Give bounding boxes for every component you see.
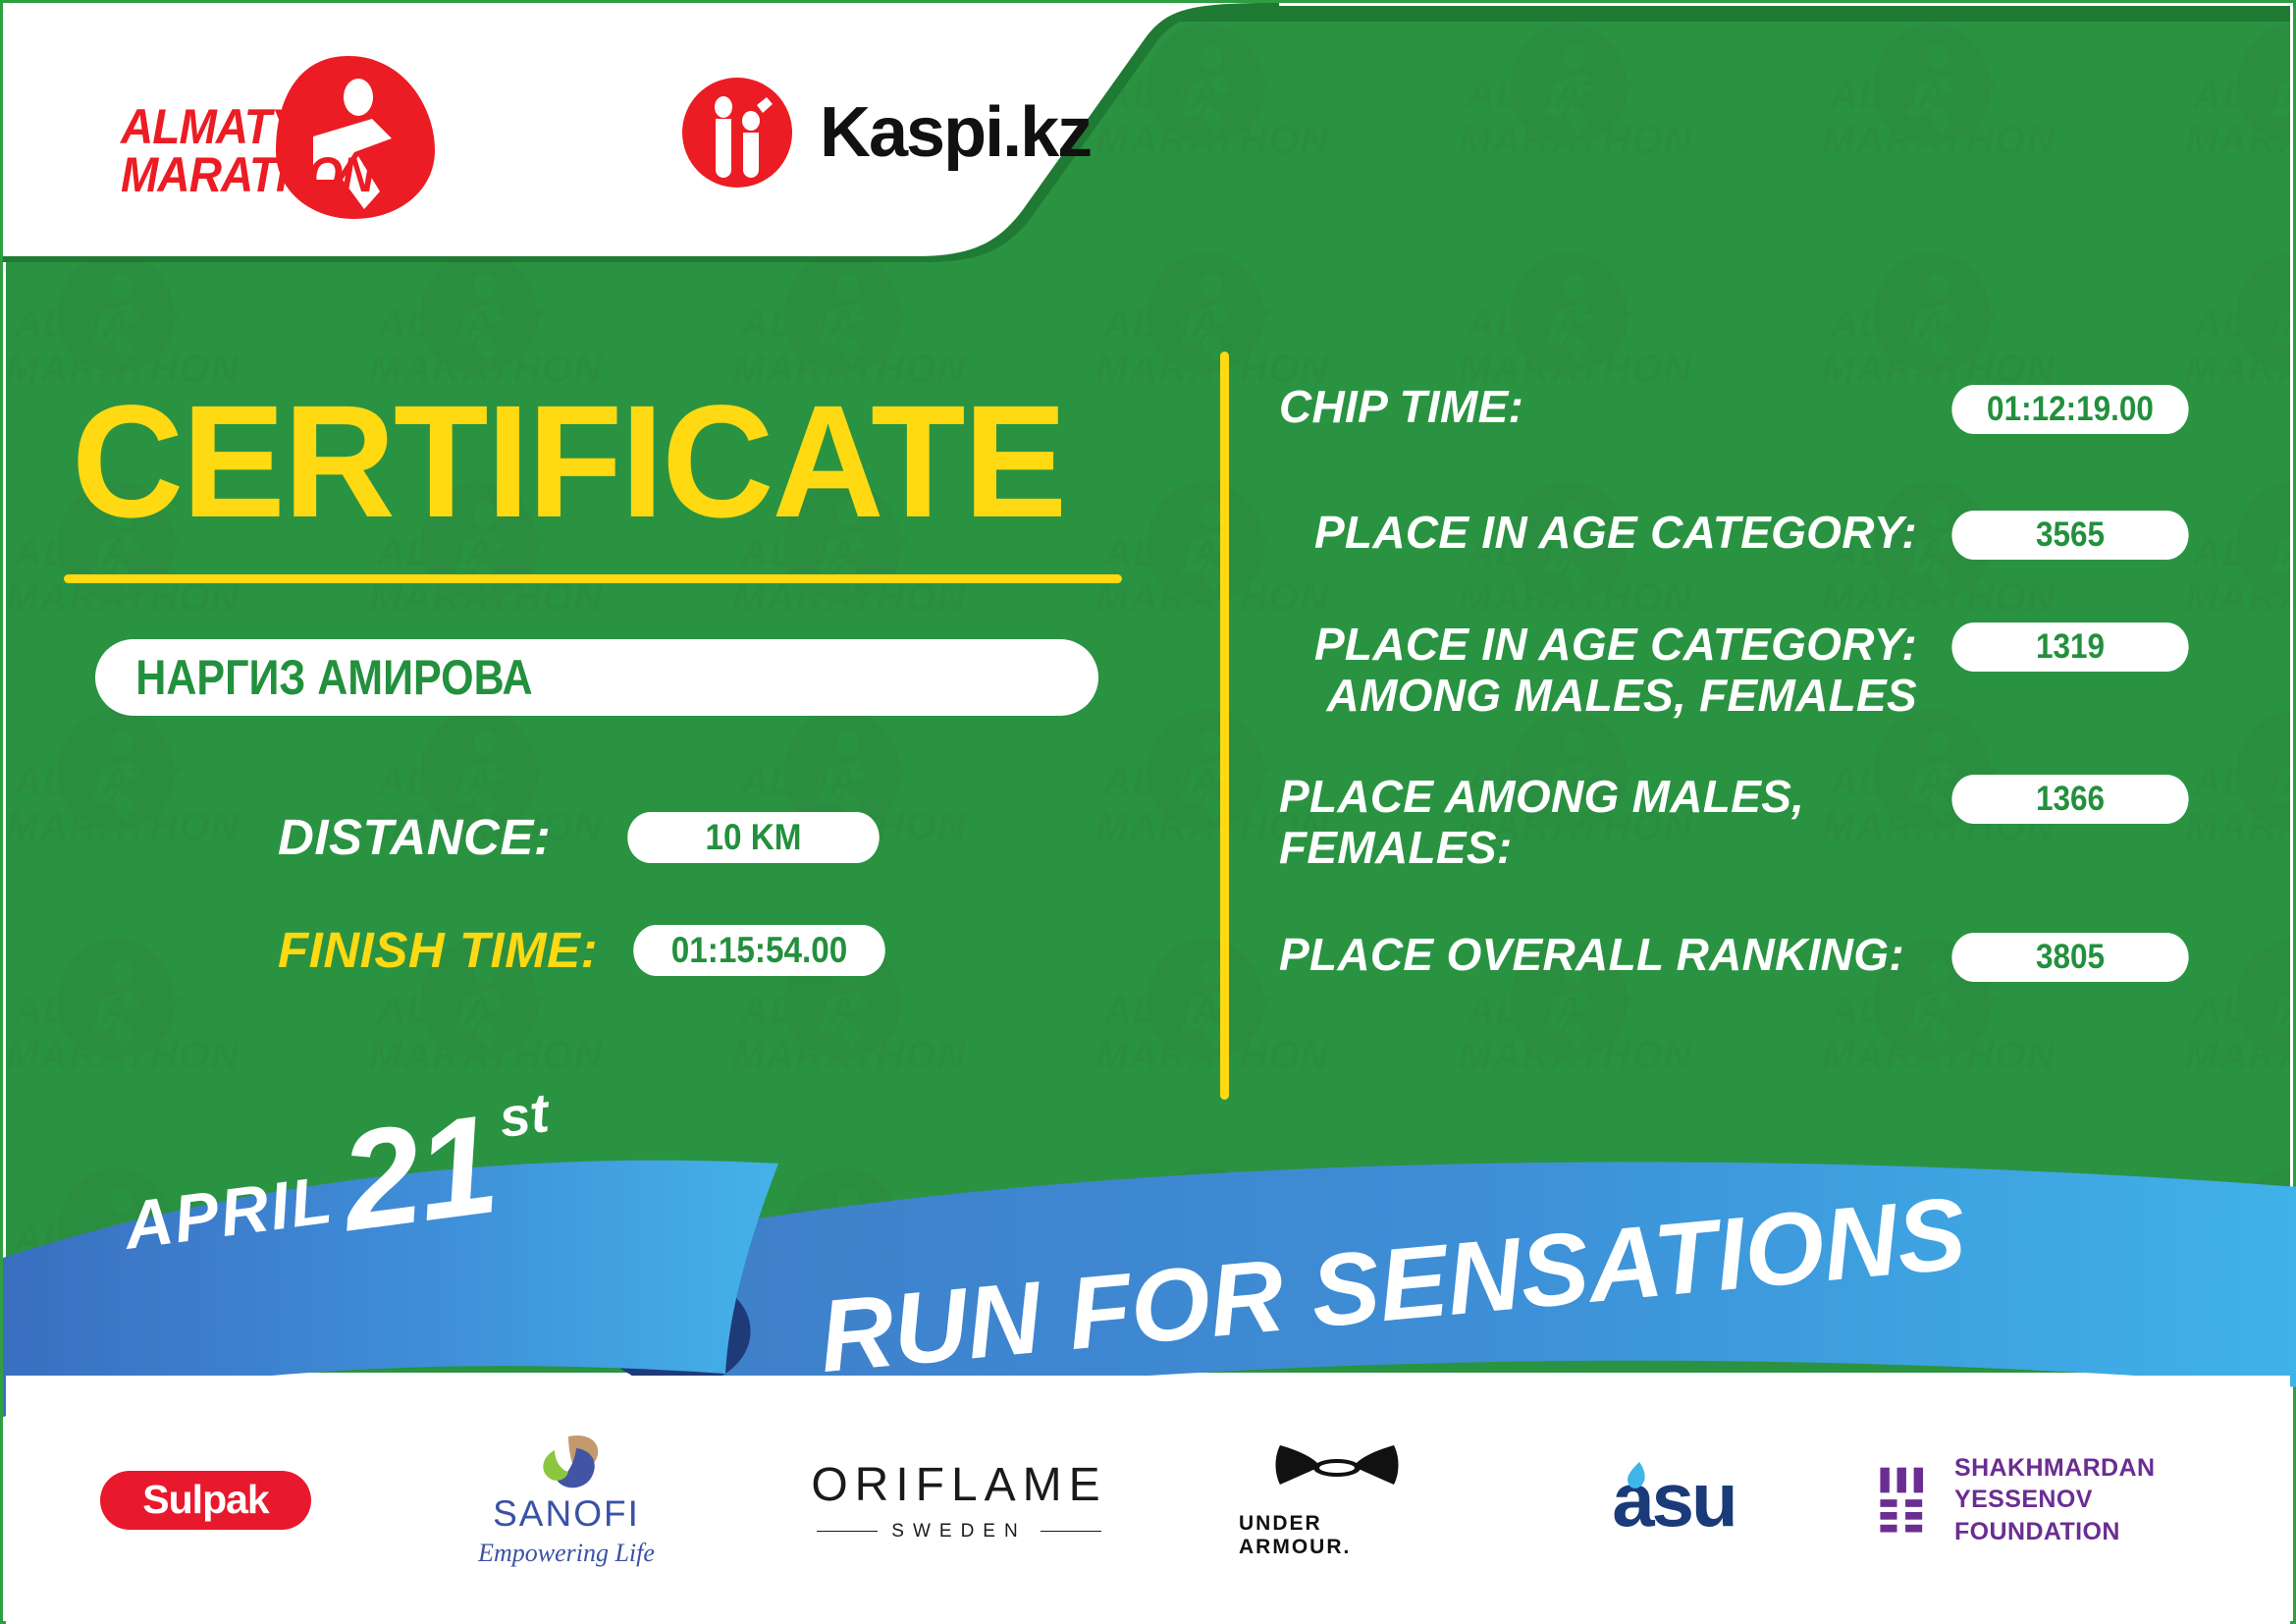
kaspi-people-icon — [680, 76, 794, 189]
vertical-divider — [1220, 352, 1229, 1100]
stat-row-place-age-category: PLACE IN AGE CATEGORY: 3565 — [1279, 507, 2202, 560]
stat-value: 1366 — [1951, 775, 2188, 824]
distance-value: 10 KM — [628, 812, 881, 863]
sulpak-wordmark: Sulpak — [142, 1477, 268, 1523]
stat-label: PLACE IN AGE CATEGORY: — [1279, 507, 1939, 558]
sanofi-mark-icon — [525, 1433, 608, 1493]
participant-name-field: НАРГИЗ АМИРОВА — [95, 639, 1098, 716]
yessenov-bars-icon — [1877, 1462, 1929, 1539]
finish-time-label: FINISH TIME: — [278, 921, 598, 979]
title-underline — [64, 574, 1122, 583]
almaty-marathon-logo: ALMATY MARATHON — [121, 52, 445, 224]
yessenov-line-1: SHAKHMARDAN YESSENOV — [1954, 1452, 2250, 1516]
ribbon-day: 21 — [335, 1106, 502, 1244]
stat-value: 01:12:19.00 — [1951, 385, 2188, 434]
asu-droplet-icon — [1624, 1460, 1649, 1493]
kaspi-logo: Kaspi.kz — [680, 74, 1091, 191]
distance-row: DISTANCE: 10 KM — [278, 808, 893, 866]
stat-value: 1319 — [1951, 623, 2188, 672]
finish-time-value: 01:15:54.00 — [633, 925, 885, 976]
oriflame-rule-right — [1041, 1531, 1101, 1532]
almaty-marathon-wordmark: ALMATY MARATHON — [121, 103, 364, 199]
certificate-page: ALMATY MARATHON — [0, 0, 2296, 1624]
logo-line-almaty: ALMATY — [121, 103, 364, 151]
sanofi-tagline: Empowering Life — [478, 1539, 655, 1568]
stat-label: PLACE OVERALL RANKING: — [1279, 929, 1939, 980]
oriflame-rule-left — [817, 1531, 878, 1532]
oriflame-subtitle-row: SWEDEN — [817, 1521, 1100, 1543]
stat-label: CHIP TIME: — [1279, 381, 1939, 432]
header-logos: ALMATY MARATHON Kaspi.kz — [3, 3, 1161, 260]
under-armour-wordmark: UNDER ARMOUR. — [1239, 1512, 1435, 1559]
sponsor-yessenov-foundation: SHAKHMARDAN YESSENOV FOUNDATION — [1877, 1452, 2250, 1548]
finish-time-row: FINISH TIME: 01:15:54.00 — [278, 921, 899, 979]
distance-label: DISTANCE: — [278, 808, 551, 866]
stat-value: 3565 — [1951, 511, 2188, 560]
yessenov-wordmark: SHAKHMARDAN YESSENOV FOUNDATION — [1954, 1452, 2250, 1548]
stat-value: 3805 — [1951, 933, 2188, 982]
stat-row-place-age-category-gender: PLACE IN AGE CATEGORY:AMONG MALES, FEMAL… — [1279, 619, 2202, 722]
oriflame-subtitle: SWEDEN — [891, 1521, 1026, 1543]
kaspi-wordmark: Kaspi.kz — [820, 92, 1091, 173]
stats-column: CHIP TIME: 01:12:19.00 PLACE IN AGE CATE… — [1279, 381, 2202, 1023]
stat-row-place-overall: PLACE OVERALL RANKING: 3805 — [1279, 929, 2202, 982]
sponsor-sulpak: Sulpak — [100, 1471, 311, 1530]
stat-row-place-among-gender: PLACE AMONG MALES,FEMALES: 1366 — [1279, 771, 2202, 874]
sponsors-bar: Sulpak SANOFI Empowering Life ORIFLAME S… — [6, 1376, 2290, 1624]
oriflame-wordmark: ORIFLAME — [811, 1458, 1106, 1512]
logo-line-marathon: MARATHON — [121, 151, 364, 199]
under-armour-icon — [1272, 1441, 1402, 1506]
stat-label: PLACE AMONG MALES,FEMALES: — [1279, 771, 1939, 874]
certificate-title: CERTIFICATE — [72, 381, 1065, 541]
sponsor-under-armour: UNDER ARMOUR. — [1239, 1441, 1435, 1559]
sponsor-asu: asu — [1573, 1455, 1749, 1544]
sponsor-sanofi: SANOFI Empowering Life — [463, 1433, 669, 1568]
stat-row-chip-time: CHIP TIME: 01:12:19.00 — [1279, 381, 2202, 434]
yessenov-line-2: FOUNDATION — [1954, 1516, 2250, 1548]
sponsor-oriflame: ORIFLAME SWEDEN — [817, 1458, 1101, 1543]
stat-label: PLACE IN AGE CATEGORY:AMONG MALES, FEMAL… — [1279, 619, 1939, 722]
participant-name-value: НАРГИЗ АМИРОВА — [95, 649, 533, 706]
sanofi-wordmark: SANOFI — [493, 1493, 640, 1535]
header-card: ALMATY MARATHON Kaspi.kz — [3, 3, 1279, 280]
